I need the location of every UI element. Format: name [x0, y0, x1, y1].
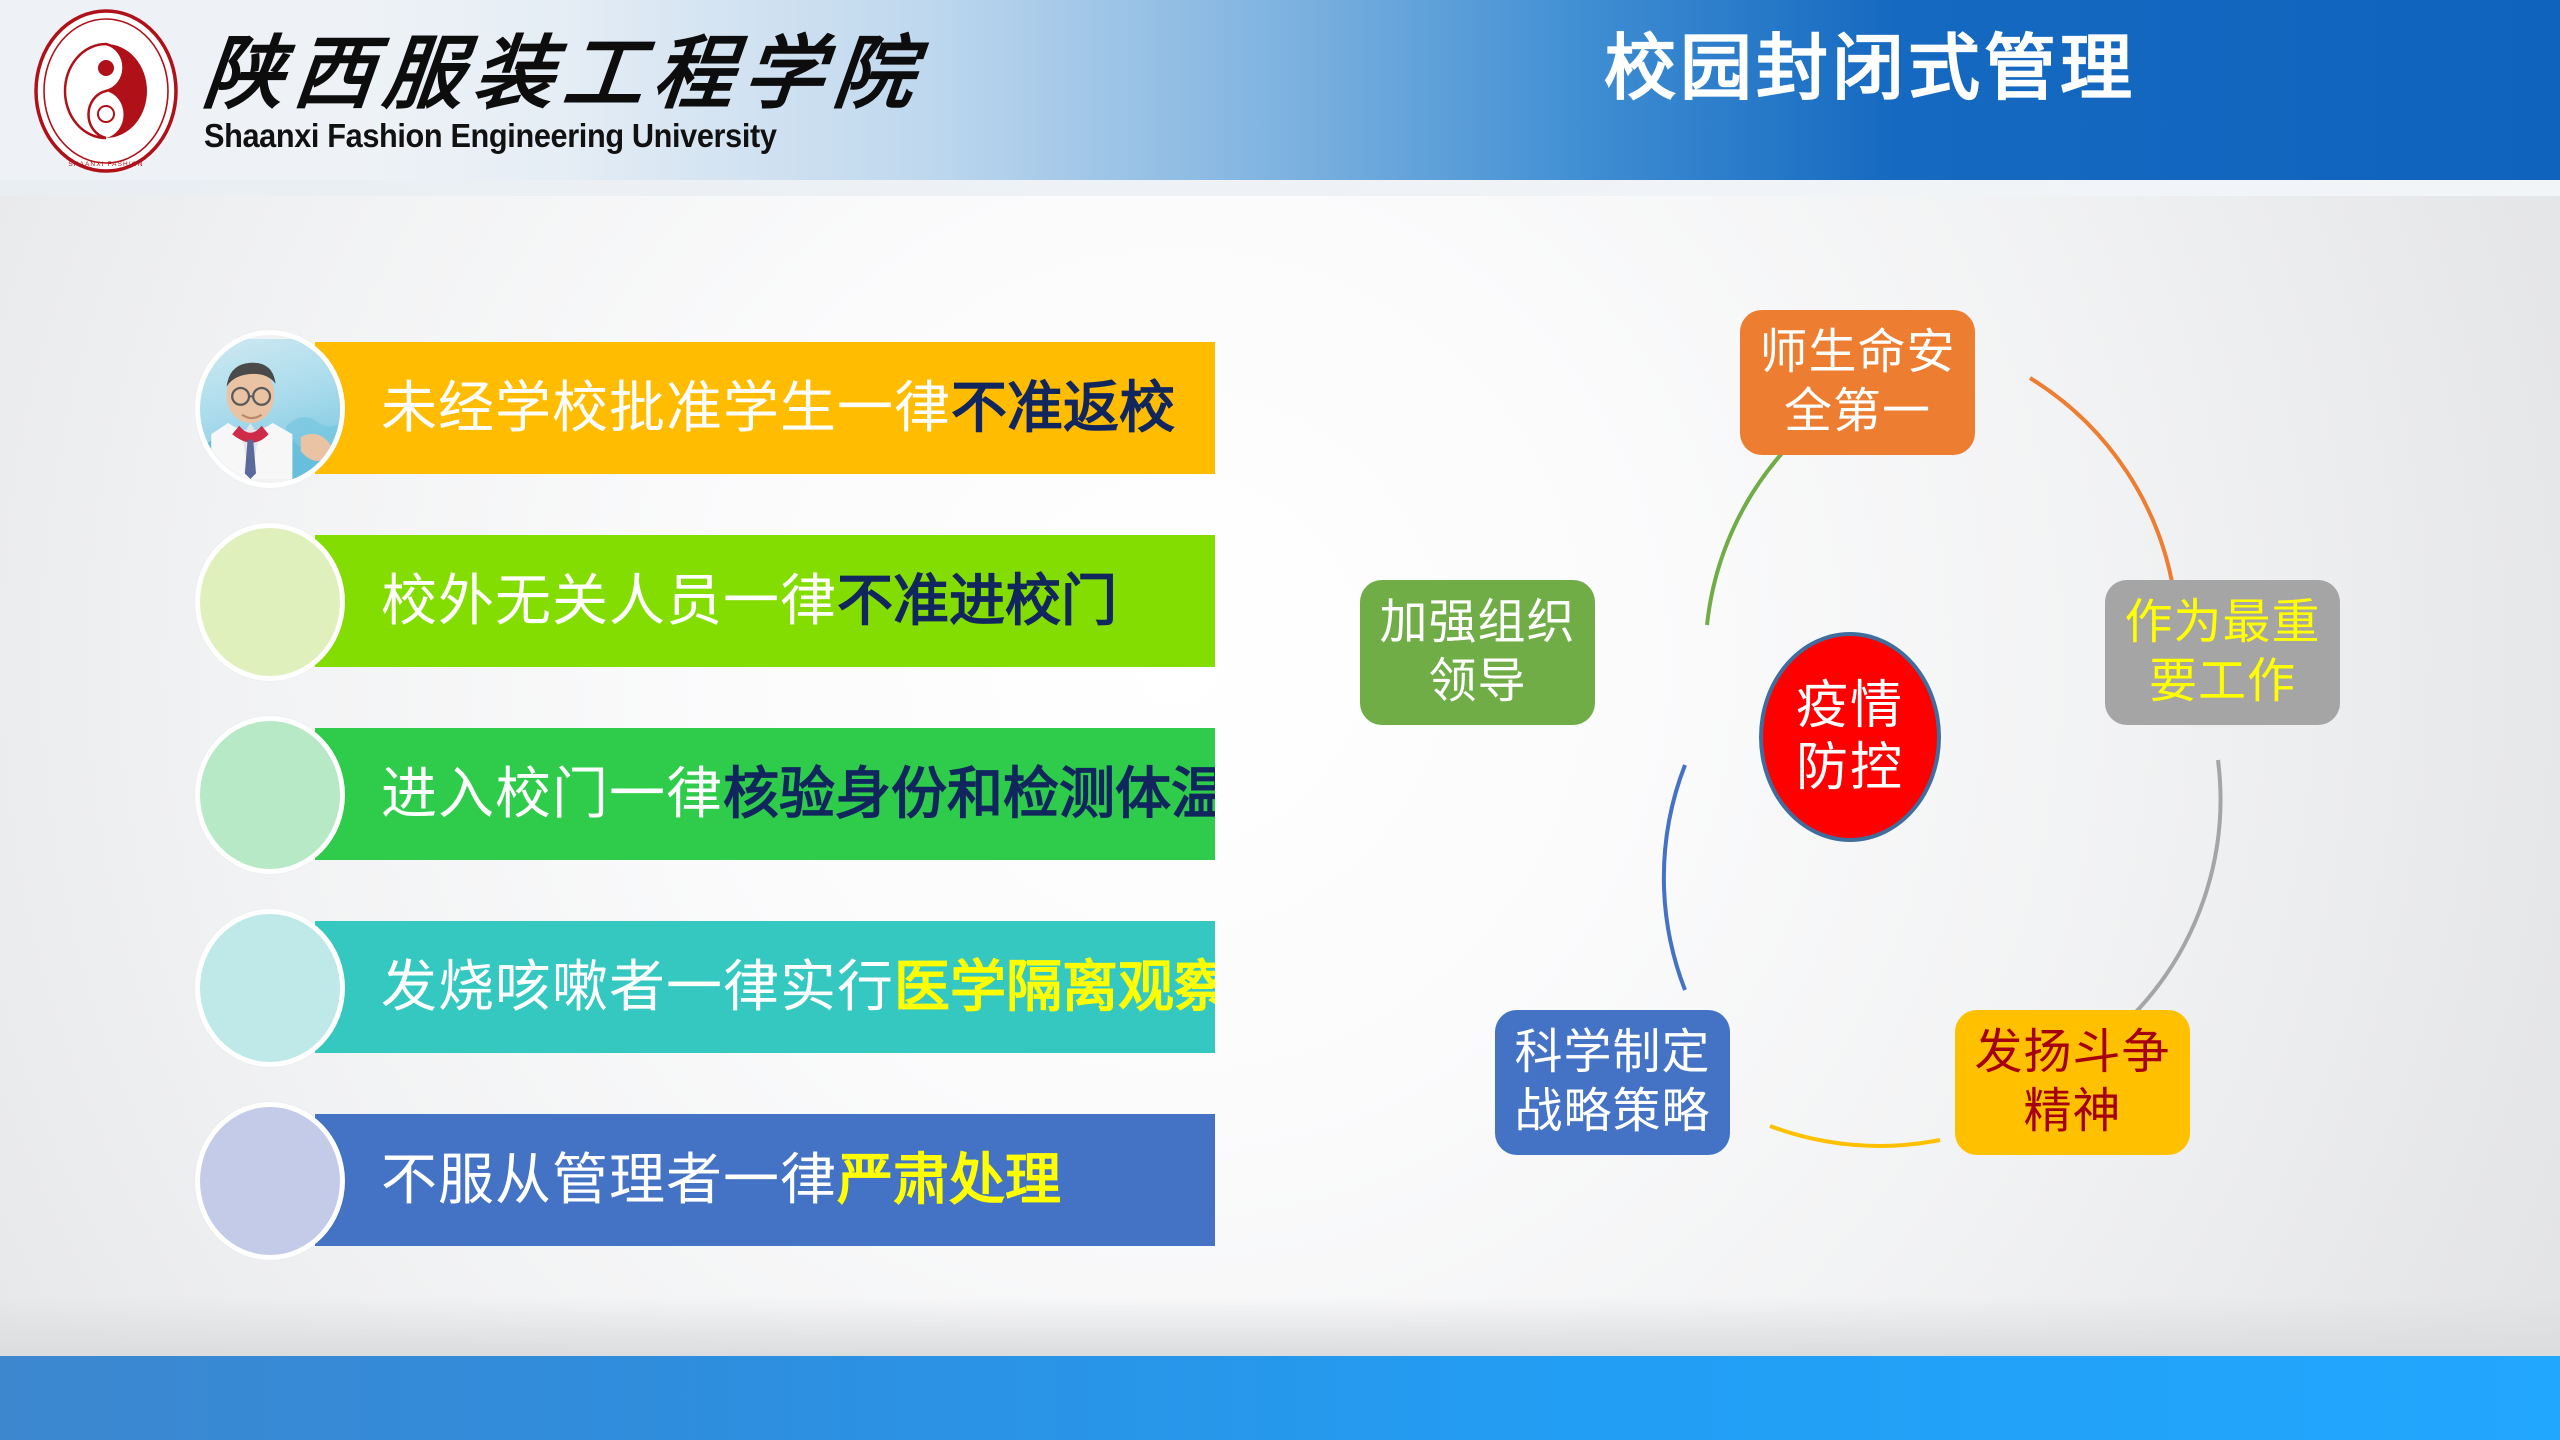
- rule-text: 进入校门一律核验身份和检测体温: [381, 763, 1227, 825]
- rule-prefix: 进入校门一律: [381, 762, 723, 825]
- rule-prefix: 校外无关人员一律: [381, 569, 837, 632]
- rules-list: 未经学校批准学生一律不准返校: [195, 330, 1255, 1260]
- rule-emphasis: 核验身份和检测体温: [723, 762, 1227, 825]
- rule-avatar: [195, 523, 345, 681]
- cycle-node-line2: 要工作: [2149, 653, 2296, 712]
- rule-bar: 未经学校批准学生一律不准返校: [315, 342, 1215, 474]
- rule-avatar: [195, 1102, 345, 1260]
- rule-avatar: [195, 330, 345, 488]
- cycle-hub-line1: 疫情: [1796, 675, 1904, 737]
- rule-bar: 不服从管理者一律严肃处理: [315, 1114, 1215, 1246]
- rule-bar: 进入校门一律核验身份和检测体温: [315, 728, 1215, 860]
- slide-header: SHAANXI FASHION 陕西服装工程学院 Shaanxi Fashion…: [0, 0, 2560, 180]
- rule-text: 未经学校批准学生一律不准返校: [381, 377, 1175, 439]
- slide-canvas: SHAANXI FASHION 陕西服装工程学院 Shaanxi Fashion…: [0, 0, 2560, 1440]
- rule-emphasis: 不准返校: [951, 376, 1175, 439]
- rule-emphasis: 严肃处理: [837, 1148, 1061, 1211]
- list-item[interactable]: 进入校门一律核验身份和检测体温: [195, 716, 1215, 874]
- list-item[interactable]: 未经学校批准学生一律不准返校: [195, 330, 1215, 488]
- portrait-photo-icon: [200, 335, 340, 483]
- cycle-node-bottom-left[interactable]: 科学制定 战略策略: [1495, 1010, 1730, 1155]
- cycle-node-line2: 领导: [1428, 653, 1526, 712]
- cycle-hub-line2: 防控: [1796, 737, 1904, 799]
- university-name-cn: 陕西服装工程学院: [200, 35, 928, 115]
- rule-emphasis: 医学隔离观察: [894, 955, 1230, 1018]
- slide-footer: [0, 1356, 2560, 1440]
- cycle-node-line2: 战略策略: [1514, 1083, 1710, 1142]
- university-branding: SHAANXI FASHION 陕西服装工程学院 Shaanxi Fashion…: [30, 6, 924, 176]
- cycle-node-line2: 精神: [2023, 1083, 2121, 1142]
- cycle-node-line1: 作为最重: [2124, 594, 2320, 653]
- rule-text: 校外无关人员一律不准进校门: [381, 570, 1117, 632]
- cycle-node-left[interactable]: 加强组织 领导: [1360, 580, 1595, 725]
- rule-emphasis: 不准进校门: [837, 569, 1117, 632]
- page-title: 校园封闭式管理: [1520, 26, 2220, 112]
- list-item[interactable]: 校外无关人员一律不准进校门: [195, 523, 1215, 681]
- cycle-node-line1: 加强组织: [1379, 594, 1575, 653]
- rule-prefix: 发烧咳嗽者一律实行: [381, 955, 894, 1018]
- cycle-node-top[interactable]: 师生命安 全第一: [1740, 310, 1975, 455]
- rule-bar: 发烧咳嗽者一律实行医学隔离观察: [315, 921, 1215, 1053]
- cycle-node-line1: 科学制定: [1514, 1024, 1710, 1083]
- rule-prefix: 不服从管理者一律: [381, 1148, 837, 1211]
- rule-avatar: [195, 909, 345, 1067]
- rule-text: 不服从管理者一律严肃处理: [381, 1149, 1061, 1211]
- rule-bar: 校外无关人员一律不准进校门: [315, 535, 1215, 667]
- cycle-node-right[interactable]: 作为最重 要工作: [2105, 580, 2340, 725]
- rule-avatar: [195, 716, 345, 874]
- university-seal-icon: SHAANXI FASHION: [30, 6, 182, 176]
- cycle-node-line1: 师生命安: [1759, 324, 1955, 383]
- svg-text:SHAANXI FASHION: SHAANXI FASHION: [68, 161, 143, 168]
- list-item[interactable]: 发烧咳嗽者一律实行医学隔离观察: [195, 909, 1215, 1067]
- cycle-diagram: 师生命安 全第一 作为最重 要工作 发扬斗争 精神 科学制定 战略策略 加强组织…: [1340, 260, 2520, 1260]
- rule-prefix: 未经学校批准学生一律: [381, 376, 951, 439]
- rule-text: 发烧咳嗽者一律实行医学隔离观察: [381, 956, 1230, 1018]
- cycle-hub[interactable]: 疫情 防控: [1759, 632, 1941, 842]
- cycle-node-line1: 发扬斗争: [1974, 1024, 2170, 1083]
- university-name-en: Shaanxi Fashion Engineering University: [204, 117, 874, 155]
- list-item[interactable]: 不服从管理者一律严肃处理: [195, 1102, 1215, 1260]
- cycle-node-line2: 全第一: [1784, 383, 1931, 442]
- university-name-block: 陕西服装工程学院 Shaanxi Fashion Engineering Uni…: [204, 27, 924, 155]
- header-divider: [0, 180, 2560, 196]
- cycle-node-bottom-right[interactable]: 发扬斗争 精神: [1955, 1010, 2190, 1155]
